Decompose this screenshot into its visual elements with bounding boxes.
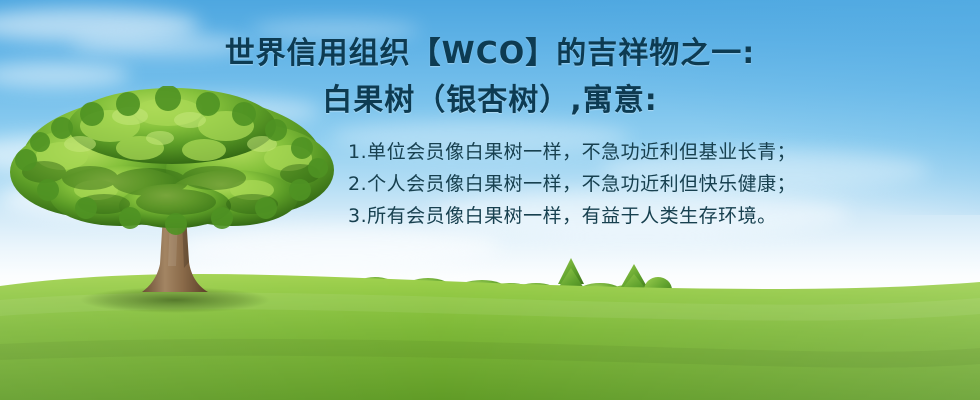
wco-mascot-banner: 世界信用组织【WCO】的吉祥物之一: 白果树（银杏树）,寓意: 1.单位会员像白… (0, 0, 980, 400)
headline-line-2: 白果树（银杏树）,寓意: (0, 77, 980, 124)
list-item: 1.单位会员像白果树一样，不急功近利但基业长青； (348, 136, 908, 168)
list-item: 3.所有会员像白果树一样，有益于人类生存环境。 (348, 200, 908, 232)
banner-headline: 世界信用组织【WCO】的吉祥物之一: 白果树（银杏树）,寓意: (0, 30, 980, 124)
headline-line-1: 世界信用组织【WCO】的吉祥物之一: (225, 36, 756, 71)
list-item: 2.个人会员像白果树一样，不急功近利但快乐健康； (348, 168, 908, 200)
mascot-meaning-list: 1.单位会员像白果树一样，不急功近利但基业长青； 2.个人会员像白果树一样，不急… (348, 136, 908, 232)
